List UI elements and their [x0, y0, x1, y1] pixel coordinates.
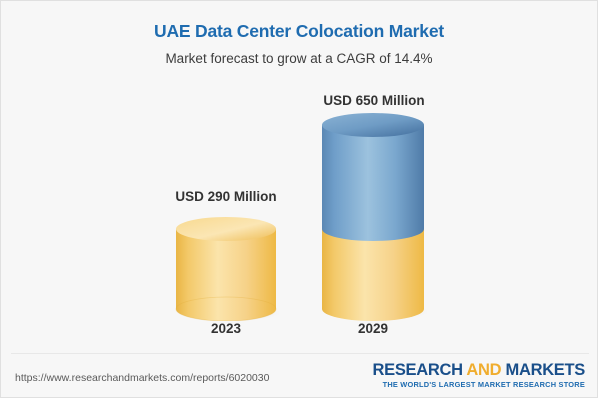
- cylinder-2023-svg: [173, 217, 279, 321]
- bar-cylinder-2029: [319, 113, 427, 321]
- bar-cylinder-2023: [173, 217, 279, 321]
- x-axis-label-2029: 2029: [273, 321, 473, 336]
- chart-plot-area: USD 290 Million USD 650 Million: [1, 1, 597, 346]
- report-url-link[interactable]: https://www.researchandmarkets.com/repor…: [15, 372, 269, 384]
- value-label-2029: USD 650 Million: [274, 93, 474, 108]
- value-label-2023: USD 290 Million: [126, 189, 326, 204]
- footer-divider: [11, 353, 589, 354]
- logo-wordmark: RESEARCH AND MARKETS: [373, 361, 586, 380]
- logo-tagline: THE WORLD'S LARGEST MARKET RESEARCH STOR…: [373, 380, 586, 390]
- cylinder-2029-svg: [319, 113, 427, 321]
- logo-word-markets: MARKETS: [506, 361, 585, 379]
- logo-word-and: AND: [463, 361, 506, 379]
- logo-word-research: RESEARCH: [373, 361, 463, 379]
- research-and-markets-logo[interactable]: RESEARCH AND MARKETS THE WORLD'S LARGEST…: [373, 361, 586, 390]
- infographic-card: UAE Data Center Colocation Market Market…: [0, 0, 598, 398]
